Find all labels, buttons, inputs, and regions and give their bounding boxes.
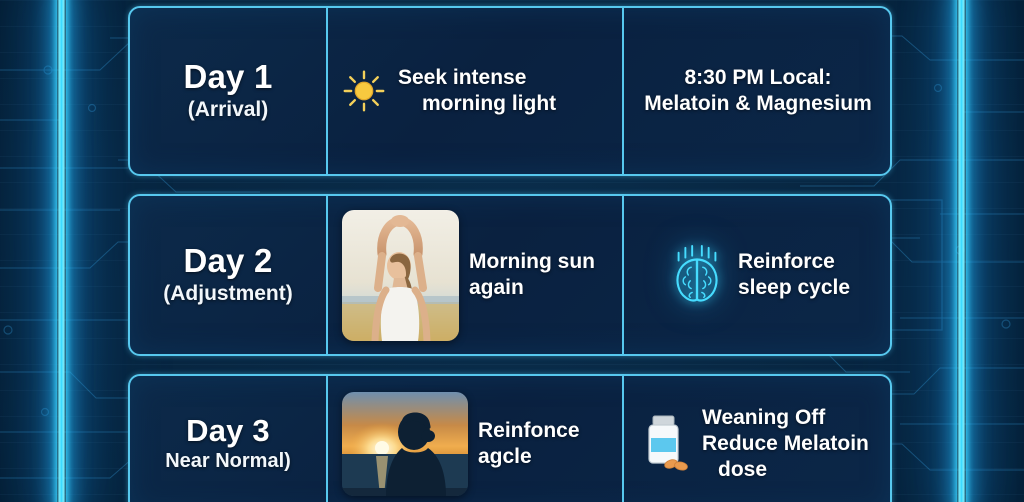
day3-morning-line2: agcle xyxy=(478,444,580,470)
schedule-card-list: Day 1 (Arrival) xyxy=(128,0,896,502)
day1-evening-line2: Melatoin & Magnesium xyxy=(640,91,876,117)
day1-evening-line1: 8:30 PM Local: xyxy=(640,65,876,91)
neon-bar-left xyxy=(57,0,66,502)
brain-icon xyxy=(666,244,728,306)
day-subtitle-1: (Arrival) xyxy=(188,98,269,122)
day2-sleep-line2: sleep cycle xyxy=(738,275,850,301)
day-label-cell-2: Day 2 (Adjustment) xyxy=(130,196,326,354)
day3-weaning-cell: Weaning Off Reduce Melatoin dose xyxy=(622,376,890,502)
day-title-3: Day 3 xyxy=(186,415,270,447)
day3-morning-text: Reinfonce agcle xyxy=(478,418,580,471)
day2-sleep-line1: Reinforce xyxy=(738,249,850,275)
day3-weaning-line3: dose xyxy=(702,457,869,483)
day1-evening-text: 8:30 PM Local: Melatoin & Magnesium xyxy=(640,65,876,118)
brain-icon-wrapper xyxy=(666,244,728,306)
day1-morning-text: Seek intense morning light xyxy=(398,65,556,118)
schedule-row-day1[interactable]: Day 1 (Arrival) xyxy=(128,6,892,176)
schedule-row-day3[interactable]: Day 3 Near Normal) xyxy=(128,374,892,502)
day-subtitle-2: (Adjustment) xyxy=(163,282,293,306)
photo-woman-stretching xyxy=(342,210,459,341)
photo-sunset-silhouette xyxy=(342,392,468,496)
day3-morning-line1: Reinfonce xyxy=(478,418,580,444)
day3-weaning-text: Weaning Off Reduce Melatoin dose xyxy=(702,405,869,484)
day1-morning-line1: Seek intense xyxy=(398,65,556,91)
day-title-1: Day 1 xyxy=(183,60,272,94)
day1-morning-line2: morning light xyxy=(398,91,556,117)
pill-bottle-icon xyxy=(640,414,692,474)
day3-weaning-line2: Reduce Melatoin xyxy=(702,431,869,457)
day1-evening-cell: 8:30 PM Local: Melatoin & Magnesium xyxy=(622,8,890,174)
neon-bar-right xyxy=(957,0,966,502)
day2-morning-line1: Morning sun xyxy=(469,249,595,275)
day2-sleep-cell: Reinforce sleep cycle xyxy=(622,196,890,354)
sun-icon xyxy=(342,69,386,113)
schedule-row-day2[interactable]: Day 2 (Adjustment) xyxy=(128,194,892,356)
day2-sleep-text: Reinforce sleep cycle xyxy=(738,249,850,302)
day3-weaning-line1: Weaning Off xyxy=(702,405,869,431)
day1-morning-cell: Seek intense morning light xyxy=(326,8,622,174)
day2-morning-line2: again xyxy=(469,275,595,301)
day3-morning-cell: Reinfonce agcle xyxy=(326,376,622,502)
day-label-cell-3: Day 3 Near Normal) xyxy=(130,376,326,502)
infographic-stage: Day 1 (Arrival) xyxy=(0,0,1024,502)
day-label-cell-1: Day 1 (Arrival) xyxy=(130,8,326,174)
day-title-2: Day 2 xyxy=(183,244,272,278)
day2-morning-cell: Morning sun again xyxy=(326,196,622,354)
day-subtitle-3: Near Normal) xyxy=(165,450,291,473)
day2-morning-text: Morning sun again xyxy=(469,249,595,302)
